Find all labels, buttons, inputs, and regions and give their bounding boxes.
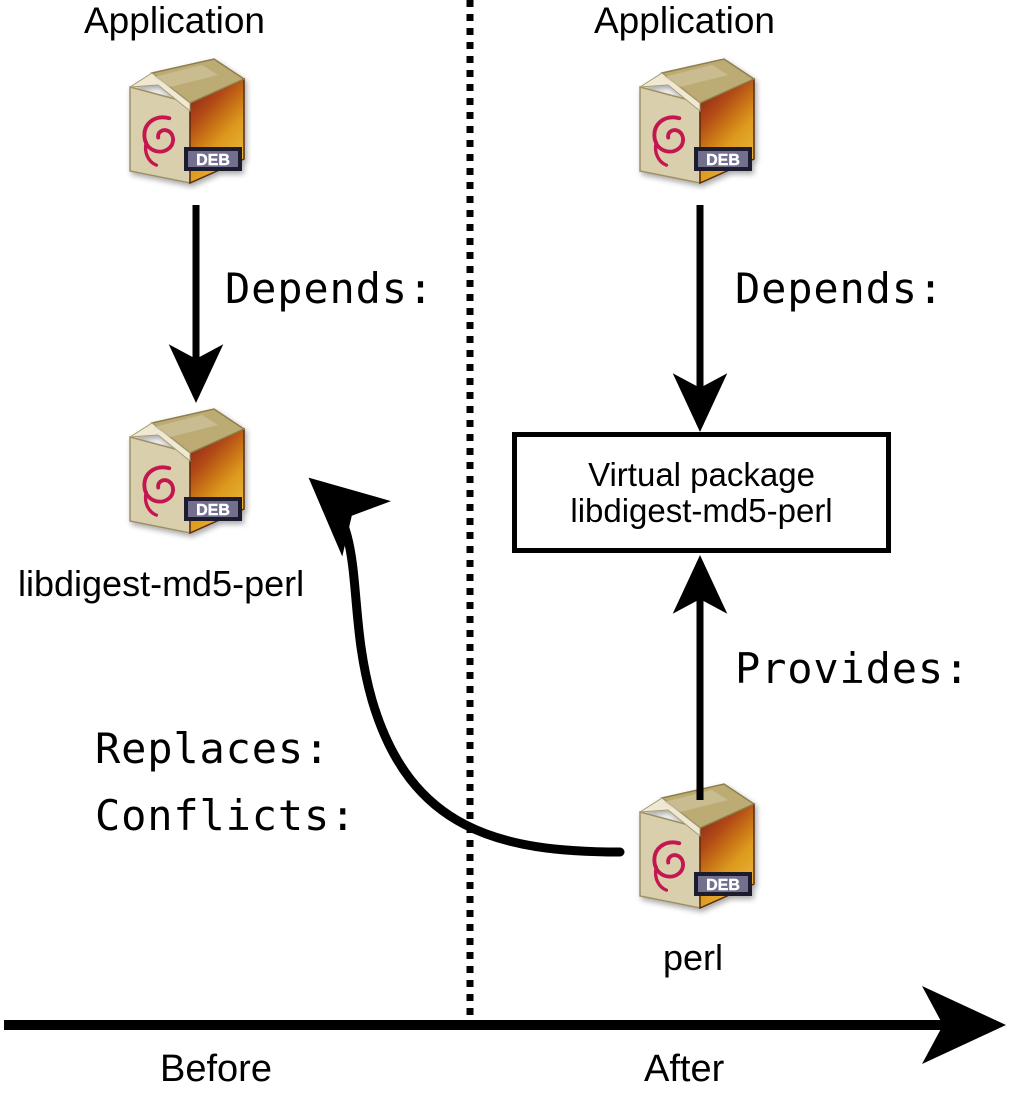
svg-text:DEB: DEB	[196, 152, 230, 169]
svg-text:DEB: DEB	[706, 152, 740, 169]
libdigest-md5-perl-label: libdigest-md5-perl	[18, 566, 304, 602]
provides-label: Provides:	[735, 648, 970, 690]
svg-text:DEB: DEB	[196, 502, 230, 519]
left-depends-label: Depends:	[225, 268, 434, 310]
replaces-label: Replaces:	[95, 728, 330, 770]
diagram-canvas: Application Application	[0, 0, 1024, 1094]
perl-label: perl	[663, 940, 723, 976]
right-application-label: Application	[594, 2, 775, 39]
virtual-package-line1: Virtual package	[588, 457, 815, 493]
libdigest-md5-perl-package-icon: DEB	[118, 405, 258, 545]
left-application-package-icon: DEB	[118, 55, 258, 195]
virtual-package-line2: libdigest-md5-perl	[570, 493, 832, 529]
right-depends-label: Depends:	[735, 268, 944, 310]
perl-package-icon: DEB	[628, 780, 768, 920]
virtual-package-box: Virtual package libdigest-md5-perl	[512, 432, 891, 553]
conflicts-label: Conflicts:	[95, 795, 356, 837]
timeline-after-label: After	[644, 1050, 724, 1088]
left-application-label: Application	[84, 2, 265, 39]
right-application-package-icon: DEB	[628, 55, 768, 195]
svg-text:DEB: DEB	[706, 877, 740, 894]
timeline-before-label: Before	[160, 1050, 272, 1088]
